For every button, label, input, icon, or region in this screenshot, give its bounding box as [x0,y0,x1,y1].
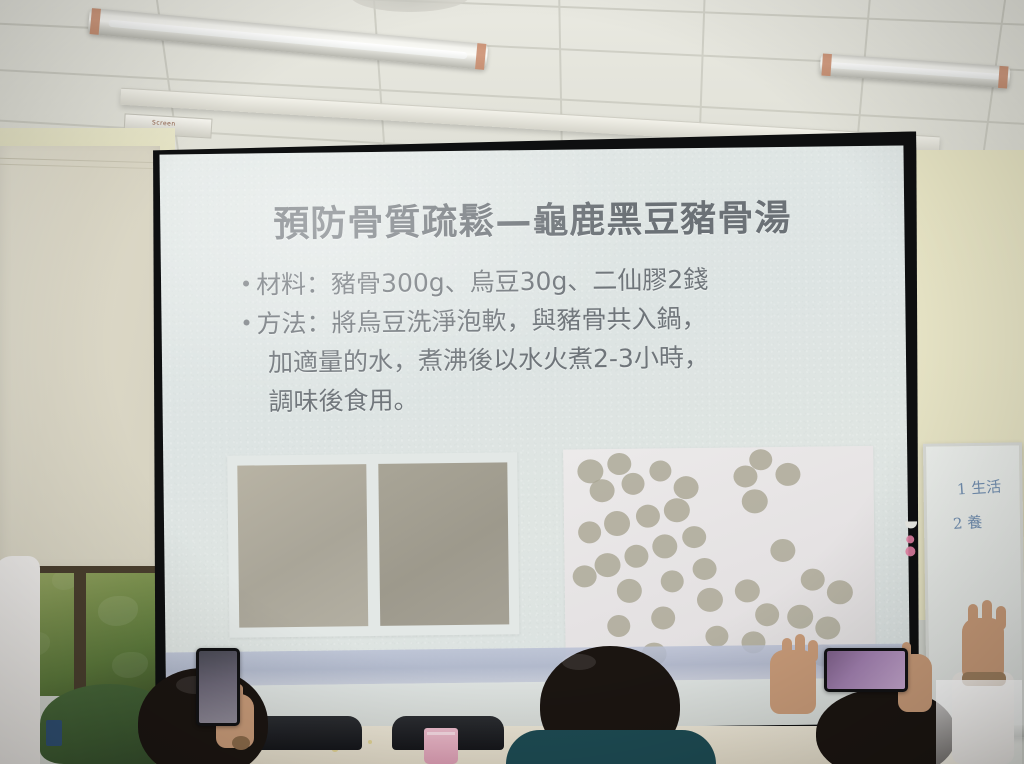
whiteboard-tray [925,725,1024,738]
method-continuation-line-2: 調味後食用。 [244,375,866,422]
glue-block-2 [378,462,509,626]
glue-block-1 [237,464,368,628]
roller-blind[interactable] [0,146,160,576]
slide-title: 預防骨質疏鬆—龜鹿黑豆豬骨湯 [160,187,905,248]
hat-tag-icon [46,720,62,746]
bullet-text-materials: 材料：豬骨300g、烏豆30g、二仙膠2錢 [256,265,709,300]
screen-pink-dot-1 [906,535,914,543]
whiteboard-line-2: 2 養 [952,509,983,537]
bullet-text-method: 方法：將烏豆洗淨泡軟，與豬骨共入鍋， [256,304,706,338]
bullet-dot-icon [244,319,250,325]
screen-pink-dot-2 [905,546,915,556]
screen-housing-label: Screen [152,119,176,127]
classroom-photo-scene: Screen 預防骨質疏鬆—龜鹿黑豆豬骨湯 材料：豬骨300g、烏豆30g、二仙… [0,0,1024,764]
slide-image-antler-glue [227,452,519,638]
slide-bullet-list: 材料：豬骨300g、烏豆30g、二仙膠2錢 方法：將烏豆洗淨泡軟，與豬骨共入鍋，… [243,258,867,422]
slide-footer-base [166,677,911,732]
window [0,566,162,696]
whiteboard-line-1: 1 生活 [956,473,1002,502]
slide-content: 預防骨質疏鬆—龜鹿黑豆豬骨湯 材料：豬骨300g、烏豆30g、二仙膠2錢 方法：… [159,145,910,732]
bullet-dot-icon [243,280,249,286]
projection-screen: 預防骨質疏鬆—龜鹿黑豆豬骨湯 材料：豬骨300g、烏豆30g、二仙膠2錢 方法：… [148,131,923,748]
